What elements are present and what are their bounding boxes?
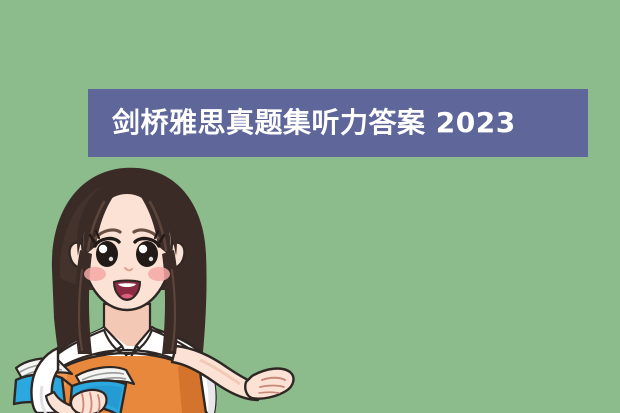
student-girl-illustration [0,150,300,413]
title-banner: 剑桥雅思真题集听力答案 2023 [88,89,588,157]
screenshot-canvas: 剑桥雅思真题集听力答案 2023 [0,0,620,413]
page-title: 剑桥雅思真题集听力答案 2023 [88,109,516,137]
